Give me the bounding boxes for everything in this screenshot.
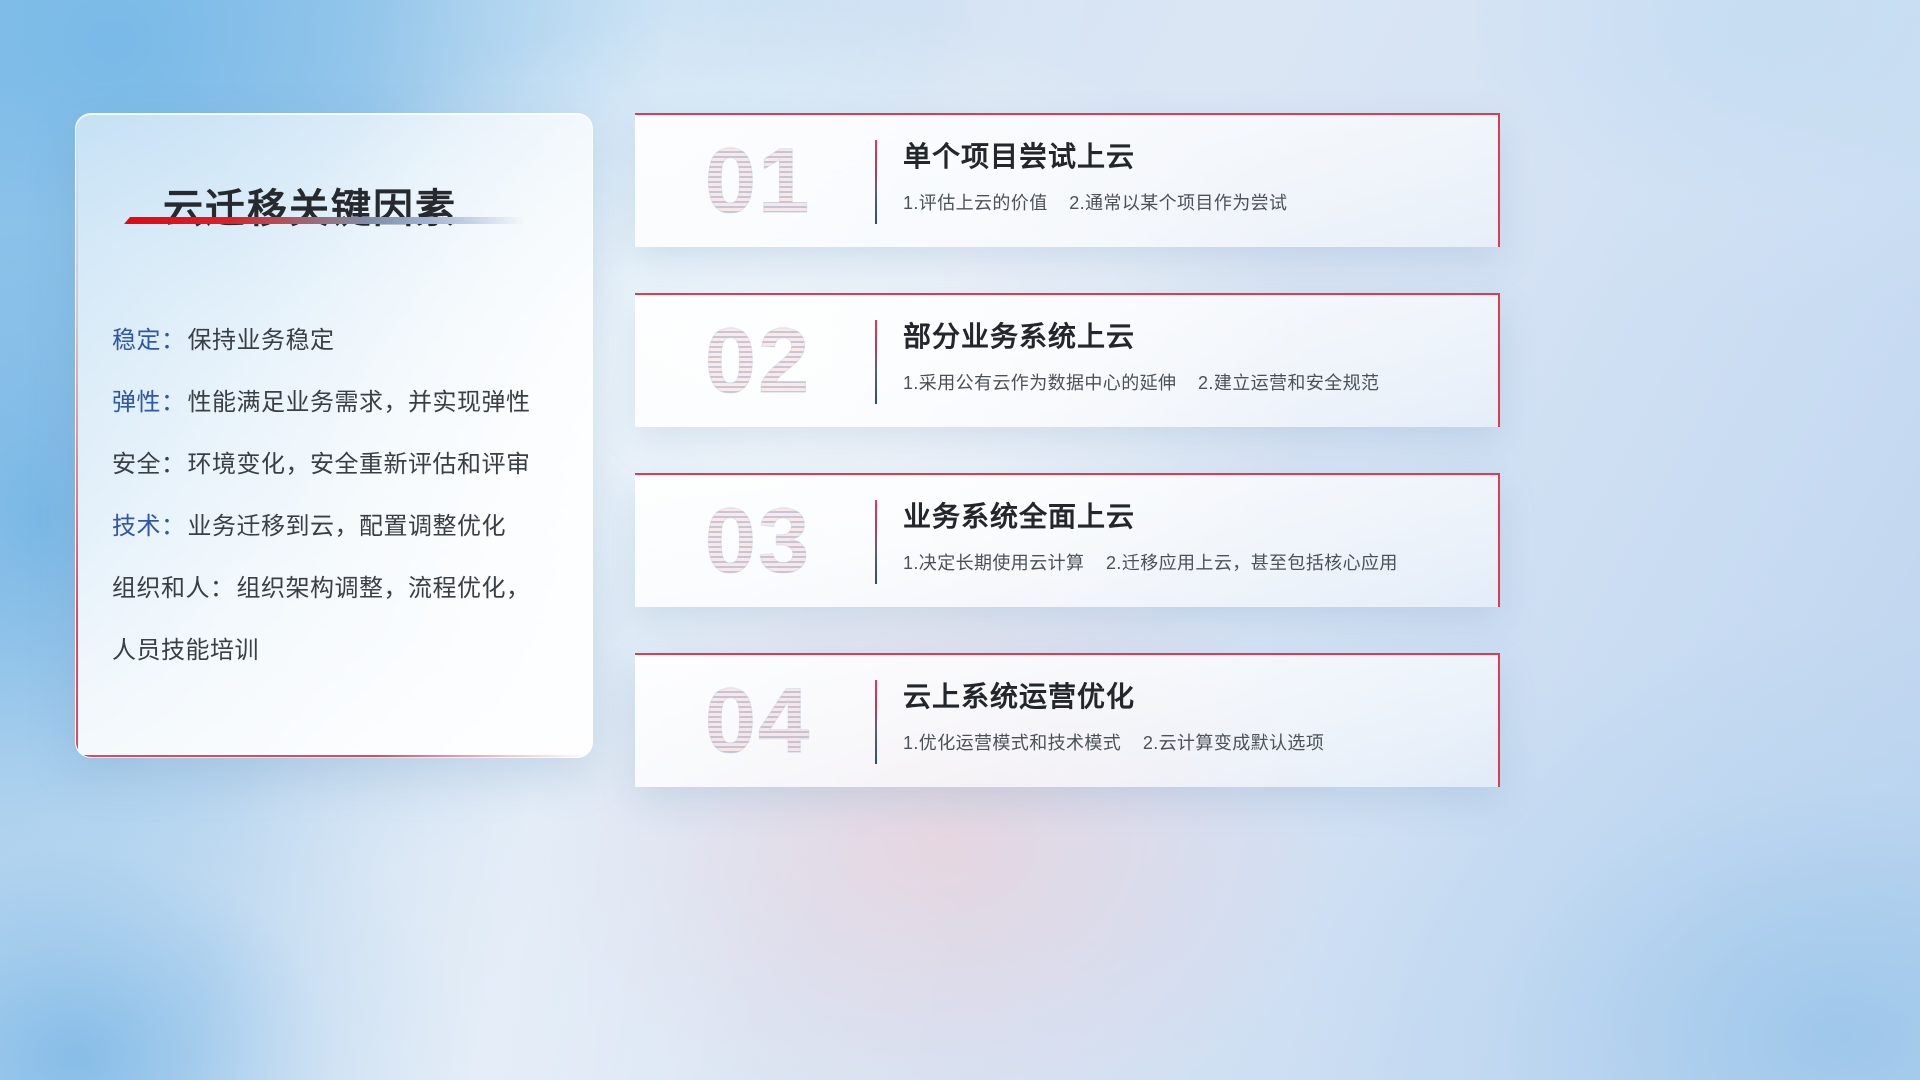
step-description: 1.评估上云的价值 2.通常以某个项目作为尝试 [903,189,1474,215]
factor-label: 组织和人： [112,575,235,602]
step-title: 云上系统运营优化 [903,675,1474,715]
step-card[interactable]: 0101单个项目尝试上云1.评估上云的价值 2.通常以某个项目作为尝试 [635,113,1500,247]
step-title: 单个项目尝试上云 [903,135,1474,175]
factor-label: 弹性： [112,389,186,416]
factor-row: 稳定：保持业务稳定 [112,310,568,372]
step-divider-bar [875,140,877,224]
factor-row: 安全：环境变化，安全重新评估和评审 [112,434,568,496]
step-number: 02 [663,301,853,421]
step-divider-bar [875,320,877,404]
factor-description: 人员技能培训 [112,637,259,664]
slide-stage: 云迁移关键因素 稳定：保持业务稳定弹性：性能满足业务需求，并实现弹性安全：环境变… [0,0,1920,1080]
step-title: 部分业务系统上云 [903,315,1474,355]
step-number: 03 [663,481,853,601]
key-factors-panel: 云迁移关键因素 稳定：保持业务稳定弹性：性能满足业务需求，并实现弹性安全：环境变… [75,113,593,758]
step-divider-bar [875,500,877,584]
factor-description: 业务迁移到云，配置调整优化 [188,513,507,540]
factor-row: 弹性：性能满足业务需求，并实现弹性 [112,372,568,434]
factor-label: 稳定： [112,327,186,354]
page-title: 云迁移关键因素 [163,176,457,234]
step-body: 单个项目尝试上云1.评估上云的价值 2.通常以某个项目作为尝试 [903,135,1474,215]
factor-label: 安全： [112,451,186,478]
step-description: 1.采用公有云作为数据中心的延伸 2.建立运营和安全规范 [903,369,1474,395]
step-divider-bar [875,680,877,764]
title-underline-rule [124,217,524,224]
step-description: 1.优化运营模式和技术模式 2.云计算变成默认选项 [903,729,1474,755]
factor-row: 组织和人：组织架构调整，流程优化， [112,558,568,620]
step-card[interactable]: 0303业务系统全面上云1.决定长期使用云计算 2.迁移应用上云，甚至包括核心应… [635,473,1500,607]
key-factors-list: 稳定：保持业务稳定弹性：性能满足业务需求，并实现弹性安全：环境变化，安全重新评估… [112,310,568,682]
factor-description: 保持业务稳定 [188,327,335,354]
step-number: 04 [663,661,853,781]
step-title: 业务系统全面上云 [903,495,1474,535]
step-body: 业务系统全面上云1.决定长期使用云计算 2.迁移应用上云，甚至包括核心应用 [903,495,1474,575]
cloud-migration-steps: 0101单个项目尝试上云1.评估上云的价值 2.通常以某个项目作为尝试0202部… [635,113,1500,833]
step-body: 云上系统运营优化1.优化运营模式和技术模式 2.云计算变成默认选项 [903,675,1474,755]
step-description: 1.决定长期使用云计算 2.迁移应用上云，甚至包括核心应用 [903,549,1474,575]
factor-label: 技术： [112,513,186,540]
step-number: 01 [663,121,853,241]
step-card[interactable]: 0404云上系统运营优化1.优化运营模式和技术模式 2.云计算变成默认选项 [635,653,1500,787]
step-body: 部分业务系统上云1.采用公有云作为数据中心的延伸 2.建立运营和安全规范 [903,315,1474,395]
factor-description: 性能满足业务需求，并实现弹性 [188,389,531,416]
factor-description: 环境变化，安全重新评估和评审 [188,451,531,478]
factor-description: 组织架构调整，流程优化， [237,575,531,602]
factor-row: 人员技能培训 [112,620,568,682]
step-card[interactable]: 0202部分业务系统上云1.采用公有云作为数据中心的延伸 2.建立运营和安全规范 [635,293,1500,427]
factor-row: 技术：业务迁移到云，配置调整优化 [112,496,568,558]
